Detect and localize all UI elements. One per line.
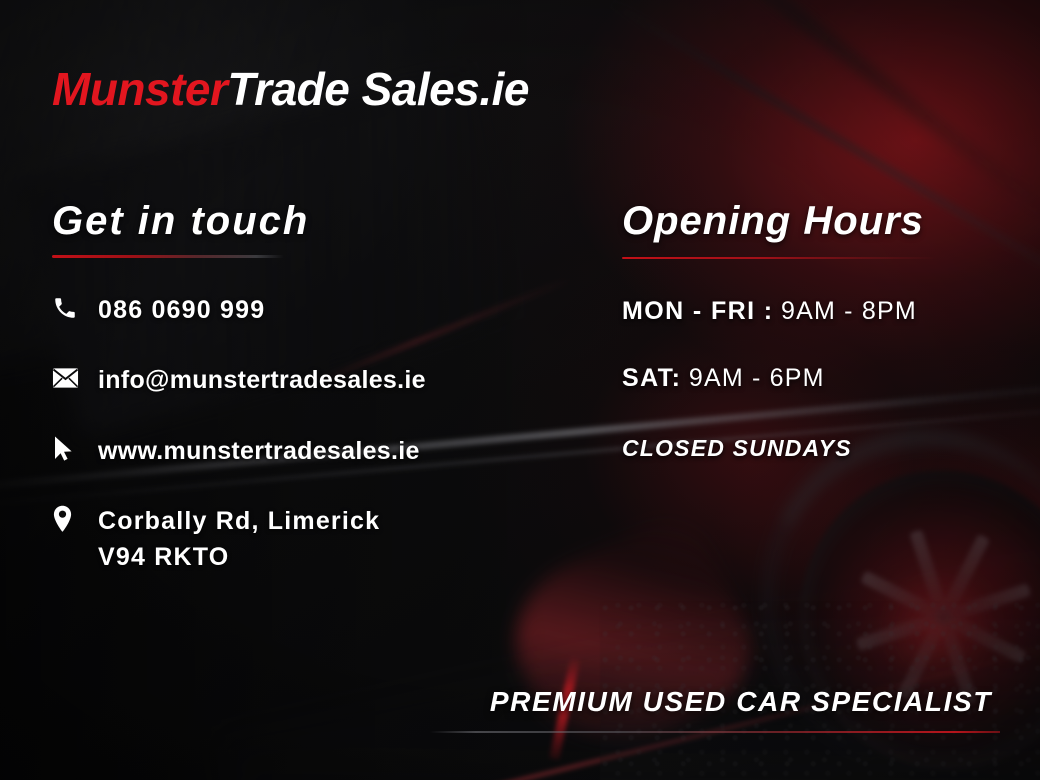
envelope-icon [52,362,86,392]
contact-heading: Get in touch [52,200,572,242]
contact-row-email[interactable]: info@munstertradesales.ie [52,362,572,398]
cursor-icon [52,433,86,463]
contact-column: Get in touch 086 0690 999 [52,200,572,575]
contact-row-phone[interactable]: 086 0690 999 [52,292,572,328]
hours-column: Opening Hours MON - FRI : 9AM - 8PM SAT:… [622,200,1022,462]
hours-saturday-time: 9AM - 6PM [689,364,825,392]
business-card-banner: MunsterTrade Sales.ie Get in touch 086 0… [0,0,1040,780]
contact-row-address[interactable]: Corbally Rd, Limerick V94 RKTO [52,503,572,576]
phone-icon [52,292,86,322]
hours-heading: Opening Hours [622,200,1022,242]
hours-saturday-label: SAT: [622,364,681,392]
hours-heading-underline [622,257,937,259]
hours-row-weekday: MON - FRI : 9AM - 8PM [622,297,1022,326]
brand-logo: MunsterTrade Sales.ie [52,66,529,112]
address-line-2: V94 RKTO [98,539,380,575]
hours-weekday-time: 9AM - 8PM [781,297,917,325]
website-url: www.munstertradesales.ie [98,433,420,469]
footer-tagline: PREMIUM USED CAR SPECIALIST [490,686,992,718]
hours-row-saturday: SAT: 9AM - 6PM [622,364,1022,393]
email-address: info@munstertradesales.ie [98,362,426,398]
hours-weekday-label: MON - FRI : [622,297,773,325]
phone-number: 086 0690 999 [98,292,265,328]
footer-tagline-underline [430,731,1000,733]
logo-text-tradesales: Trade Sales.ie [227,63,529,115]
contact-heading-underline [52,255,284,258]
address-text: Corbally Rd, Limerick V94 RKTO [98,503,380,576]
logo-text-munster: Munster [52,63,227,115]
map-pin-icon [52,503,86,533]
address-line-1: Corbally Rd, Limerick [98,507,380,535]
contact-row-website[interactable]: www.munstertradesales.ie [52,433,572,469]
closed-sundays-note: CLOSED SUNDAYS [622,435,1022,462]
